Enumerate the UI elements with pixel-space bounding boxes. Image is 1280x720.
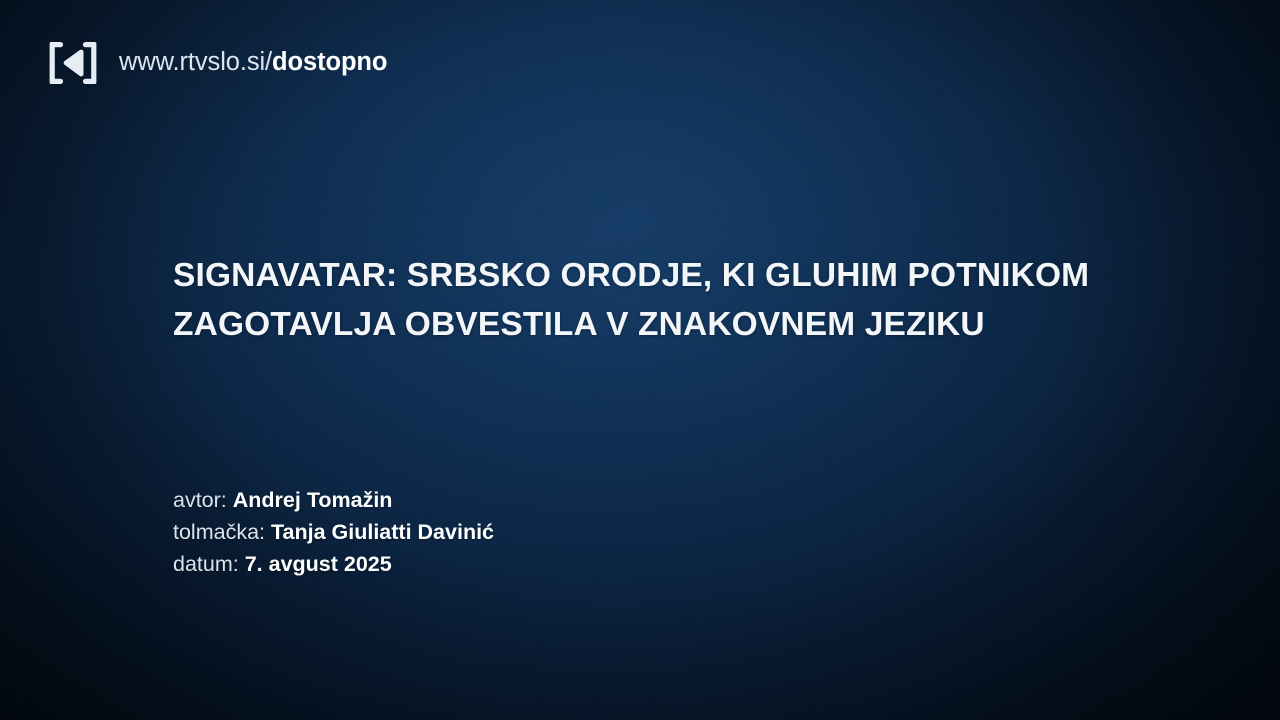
credit-label-author: avtor: <box>173 488 227 512</box>
credit-value-interpreter: Tanja Giuliatti Davinić <box>271 520 494 544</box>
brand-url-section: dostopno <box>272 48 387 76</box>
credit-row-date: datum: 7. avgust 2025 <box>173 549 494 581</box>
credit-label-date: datum: <box>173 552 239 576</box>
credit-label-interpreter: tolmačka: <box>173 520 265 544</box>
credit-value-author: Andrej Tomažin <box>233 488 393 512</box>
content-block: SIGNAVATAR: SRBSKO ORODJE, KI GLUHIM POT… <box>173 252 1153 349</box>
brand-url[interactable]: www.rtvslo.si/dostopno <box>119 50 387 76</box>
brand-url-prefix: www.rtvslo.si/ <box>119 48 272 76</box>
credits-block: avtor: Andrej Tomažin tolmačka: Tanja Gi… <box>173 485 494 580</box>
bracket-left-chevron-icon <box>48 40 98 86</box>
credit-row-author: avtor: Andrej Tomažin <box>173 485 494 517</box>
page-title: SIGNAVATAR: SRBSKO ORODJE, KI GLUHIM POT… <box>173 252 1118 349</box>
credit-value-date: 7. avgust 2025 <box>245 552 392 576</box>
brand-bar: www.rtvslo.si/dostopno <box>48 40 387 86</box>
title-slide: www.rtvslo.si/dostopno SIGNAVATAR: SRBSK… <box>0 0 1280 720</box>
background-vignette <box>0 0 1280 720</box>
credit-row-interpreter: tolmačka: Tanja Giuliatti Davinić <box>173 517 494 549</box>
